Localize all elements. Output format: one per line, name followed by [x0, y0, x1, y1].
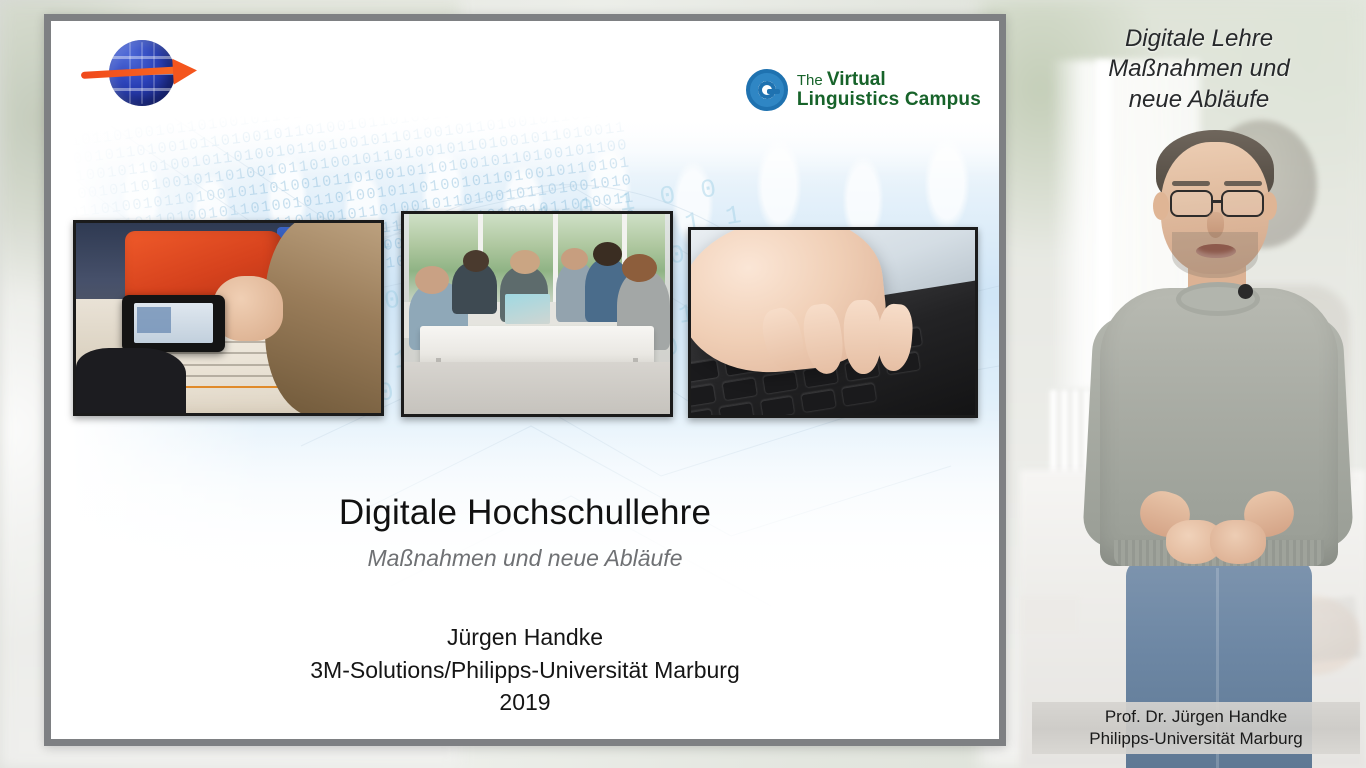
globe-arrow-logo [81, 36, 201, 111]
photo-hand-keyboard [688, 227, 978, 418]
caption-line2: Philipps-Universität Marburg [1089, 728, 1303, 750]
photo-seminar-group [401, 211, 673, 417]
photo-row [73, 211, 983, 421]
glasses-left-lens-icon [1170, 190, 1213, 217]
slide-frame: 0 1 0 0 1 1 0 1 0 0 1 0 1 1 0 0 1 0 1 1 … [44, 14, 1006, 746]
overlay-title: Digitale Lehre Maßnahmen und neue Abläuf… [1040, 24, 1358, 115]
glasses-bridge [1212, 200, 1223, 203]
arrow-head-icon [172, 57, 197, 84]
lapel-microphone-icon [1238, 284, 1253, 299]
slide-title: Digitale Hochschullehre [51, 493, 999, 533]
vlc-logo-line1: The Virtual [797, 70, 981, 90]
vlc-at-symbol-icon [746, 69, 788, 111]
overlay-title-line2: Maßnahmen und [1040, 54, 1358, 84]
presenter-video-feed [1048, 120, 1366, 768]
photo-student-smartphone [73, 220, 384, 416]
video-frame: 0 1 0 0 1 1 0 1 0 0 1 0 1 1 0 0 1 0 1 1 … [0, 0, 1366, 768]
glasses-right-lens-icon [1221, 190, 1264, 217]
presenter-name-caption: Prof. Dr. Jürgen Handke Philipps-Univers… [1032, 702, 1360, 754]
caption-line1: Prof. Dr. Jürgen Handke [1105, 706, 1287, 728]
presenter-left-eyebrow [1172, 181, 1210, 186]
vlc-logo-text: The Virtual Linguistics Campus [797, 70, 981, 110]
presenter-right-hand [1210, 520, 1266, 564]
background-top-fade [51, 116, 999, 176]
vlc-logo-line2: Linguistics Campus [797, 90, 981, 110]
author-year: 2019 [51, 686, 999, 719]
author-affiliation: 3M-Solutions/Philipps-Universität Marbur… [51, 654, 999, 687]
slide-subtitle: Maßnahmen und neue Abläufe [51, 545, 999, 572]
slide-canvas: 0 1 0 0 1 1 0 1 0 0 1 0 1 1 0 0 1 0 1 1 … [51, 21, 999, 739]
vlc-logo: The Virtual Linguistics Campus [746, 69, 981, 111]
presenter-left-ear [1153, 192, 1169, 220]
author-name: Jürgen Handke [51, 621, 999, 654]
overlay-title-line3: neue Abläufe [1040, 85, 1358, 115]
slide-author-block: Jürgen Handke 3M-Solutions/Philipps-Univ… [51, 621, 999, 719]
overlay-title-line1: Digitale Lehre [1040, 24, 1358, 54]
presenter-right-eyebrow [1224, 181, 1262, 186]
presenter-mouth [1196, 244, 1236, 258]
